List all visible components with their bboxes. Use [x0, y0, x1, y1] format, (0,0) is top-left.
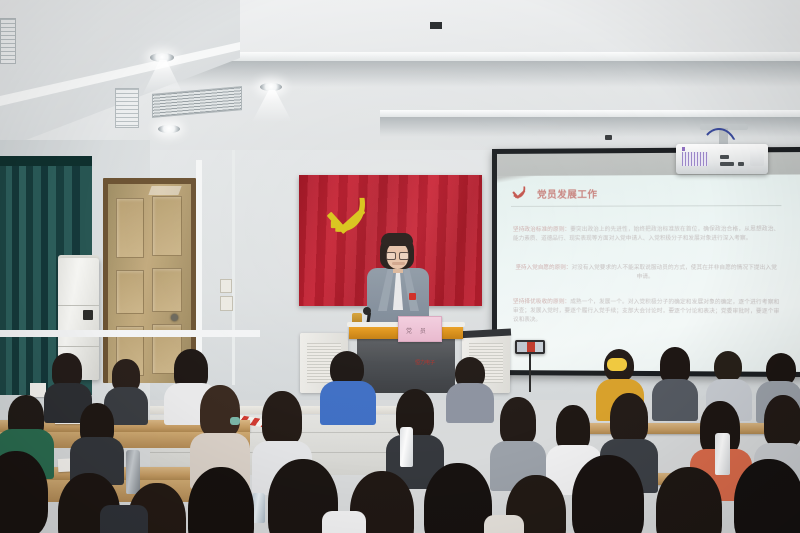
- slide-paragraph-1: 坚持政治标准的原则：要突出政治上的先进性，始终把政治标准放在首位，确保政治合格，…: [513, 225, 779, 244]
- slide-hammer-sickle-icon: [511, 184, 530, 203]
- student-head: [764, 395, 800, 447]
- ceiling-beam-2: [380, 110, 800, 117]
- slide-title-row: 党员发展工作: [511, 183, 786, 203]
- eyeglasses-icon: [386, 252, 409, 258]
- door-panel: [116, 198, 144, 258]
- slide-paragraph-3: 坚持择优吸收的原则：成熟一个，发展一个。对入党积极分子的确定和发展对象的确定，逐…: [513, 298, 779, 326]
- projector-port: [720, 155, 729, 159]
- student-head: [424, 463, 492, 533]
- door-panel: [116, 270, 144, 314]
- door-handle-icon[interactable]: [171, 314, 178, 321]
- student-shoulder: [100, 505, 148, 533]
- slide-paragraph-2: 坚持入党自愿的原则：对没有入党要求的人不能采取说服动员的方式，使其在并非自愿的情…: [513, 264, 779, 282]
- slide-paragraph-1-lead: 坚持政治标准的原则：: [513, 227, 570, 233]
- ac-seam: [58, 305, 99, 306]
- slide-title: 党员发展工作: [537, 186, 597, 200]
- curtain-rail: [0, 156, 92, 166]
- classroom-photo: 党员发展工作 坚持政治标准的原则：要突出政治上的先进性，始终把政治标准放在首位，…: [0, 0, 800, 533]
- ceiling-downlight: [158, 125, 180, 133]
- ac-display-panel[interactable]: [83, 310, 93, 320]
- projector-vent: [682, 152, 708, 166]
- projector-port: [720, 162, 734, 166]
- door-panel: [152, 268, 182, 312]
- projection-screen: 党员发展工作 坚持政治标准的原则：要突出政治上的先进性，始终把政治标准放在首位，…: [497, 152, 800, 372]
- student-head: [734, 459, 800, 533]
- audience: [0, 355, 800, 533]
- wall-speaker-icon: [115, 88, 139, 128]
- slide-paragraph-2-lead: 坚持入党自愿的原则：: [515, 265, 571, 271]
- wall-seam: [232, 150, 235, 385]
- hair-bow-icon: [607, 358, 627, 371]
- presenter-fringe: [381, 233, 413, 246]
- student-shoulder: [484, 515, 524, 533]
- party-badge-icon: [409, 293, 416, 300]
- student-head: [262, 391, 302, 445]
- thermos-bottle: [126, 450, 140, 494]
- projector-lens: [750, 150, 764, 166]
- door-glare: [148, 186, 181, 195]
- door-panel: [152, 196, 182, 256]
- microphone-icon: [363, 307, 371, 315]
- slide-paragraph-2-body: 对没有入党要求的人不能采取说服动员的方式，使其在并非自愿的情况下提出入党申请。: [572, 265, 777, 280]
- ceiling-projector[interactable]: [676, 144, 768, 174]
- smartphone-recorder[interactable]: [515, 340, 545, 354]
- student-head: [714, 351, 742, 382]
- hammer-and-sickle-emblem: [323, 190, 379, 246]
- nameplate-text: 党 员: [406, 326, 429, 335]
- student-head: [52, 353, 82, 387]
- projector-led: [682, 147, 685, 151]
- student-head: [200, 385, 240, 437]
- water-bottle: [715, 433, 730, 475]
- hair-tie-icon: [230, 417, 240, 425]
- water-bottle: [400, 427, 413, 467]
- light-switch-plate[interactable]: [220, 279, 232, 293]
- light-switch-plate[interactable]: [220, 296, 233, 311]
- lens-right: [399, 252, 409, 260]
- presenter-mouth: [392, 262, 405, 265]
- wall-speaker-icon: [0, 18, 16, 64]
- student-head: [572, 455, 644, 533]
- student-torso: [446, 383, 494, 423]
- student-head: [660, 347, 690, 383]
- ceiling-fitting: [605, 135, 612, 140]
- wall-trim: [0, 330, 260, 337]
- student-torso: [320, 381, 376, 425]
- podium-nameplate: 党 员: [398, 316, 442, 342]
- lens-left: [386, 252, 396, 260]
- ac-seam: [58, 346, 99, 347]
- slide-paragraph-3-lead: 坚持择优吸收的原则：: [513, 299, 570, 305]
- ceiling-downlight: [260, 83, 282, 91]
- phone-screen: [517, 342, 543, 352]
- slide-title-underline: [511, 205, 781, 207]
- student-shoulder: [322, 511, 366, 533]
- student-head: [610, 393, 648, 443]
- student-torso: [652, 379, 698, 421]
- ceiling-sensor-icon: [430, 22, 442, 29]
- projector-port: [738, 162, 744, 166]
- student-head: [500, 397, 536, 445]
